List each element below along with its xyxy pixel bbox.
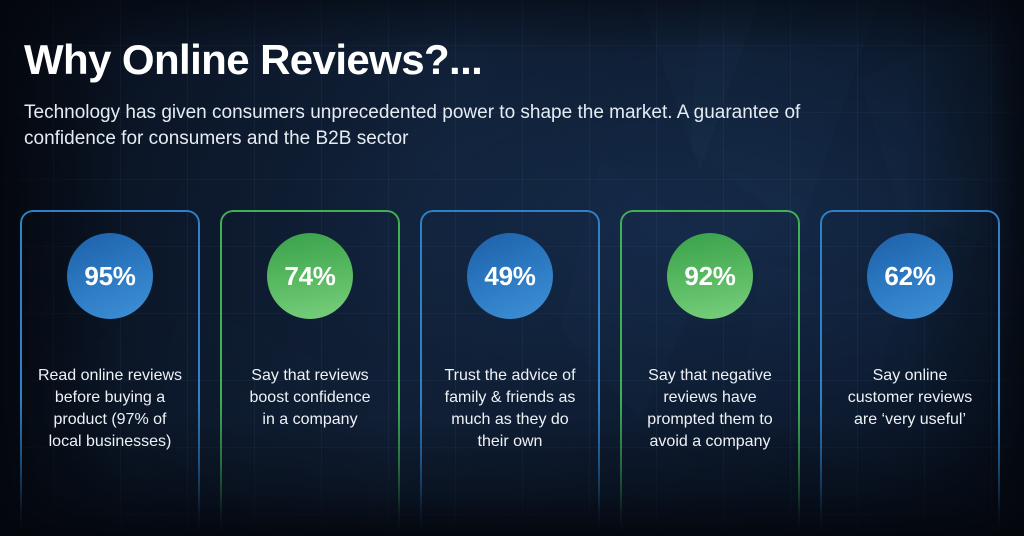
stat-value: 95% (84, 261, 135, 292)
stat-card-3[interactable]: 49% Trust the advice of family & friends… (420, 210, 600, 536)
stat-card-4[interactable]: 92% Say that negative reviews have promp… (620, 210, 800, 536)
stat-circle: 62% (867, 233, 953, 319)
stat-value: 74% (284, 261, 335, 292)
stat-card-list: 95% Read online reviews before buying a … (20, 210, 1004, 536)
stat-description: Trust the advice of family & friends as … (444, 365, 575, 453)
slide: Why Online Reviews?... Technology has gi… (0, 0, 1024, 536)
stat-description: Say online customer reviews are ‘very us… (848, 365, 972, 431)
header: Why Online Reviews?... Technology has gi… (24, 38, 884, 153)
stat-value: 49% (484, 261, 535, 292)
stat-value: 92% (684, 261, 735, 292)
stat-circle: 95% (67, 233, 153, 319)
stat-description: Say that negative reviews have prompted … (647, 365, 772, 453)
stat-circle: 74% (267, 233, 353, 319)
stat-description: Read online reviews before buying a prod… (38, 365, 182, 453)
page-title: Why Online Reviews?... (24, 38, 884, 83)
stat-value: 62% (884, 261, 935, 292)
stat-circle: 49% (467, 233, 553, 319)
stat-description: Say that reviews boost confidence in a c… (250, 365, 371, 431)
stat-card-1[interactable]: 95% Read online reviews before buying a … (20, 210, 200, 536)
stat-card-5[interactable]: 62% Say online customer reviews are ‘ver… (820, 210, 1000, 536)
stat-card-2[interactable]: 74% Say that reviews boost confidence in… (220, 210, 400, 536)
stat-circle: 92% (667, 233, 753, 319)
page-subtitle: Technology has given consumers unprecede… (24, 100, 814, 154)
